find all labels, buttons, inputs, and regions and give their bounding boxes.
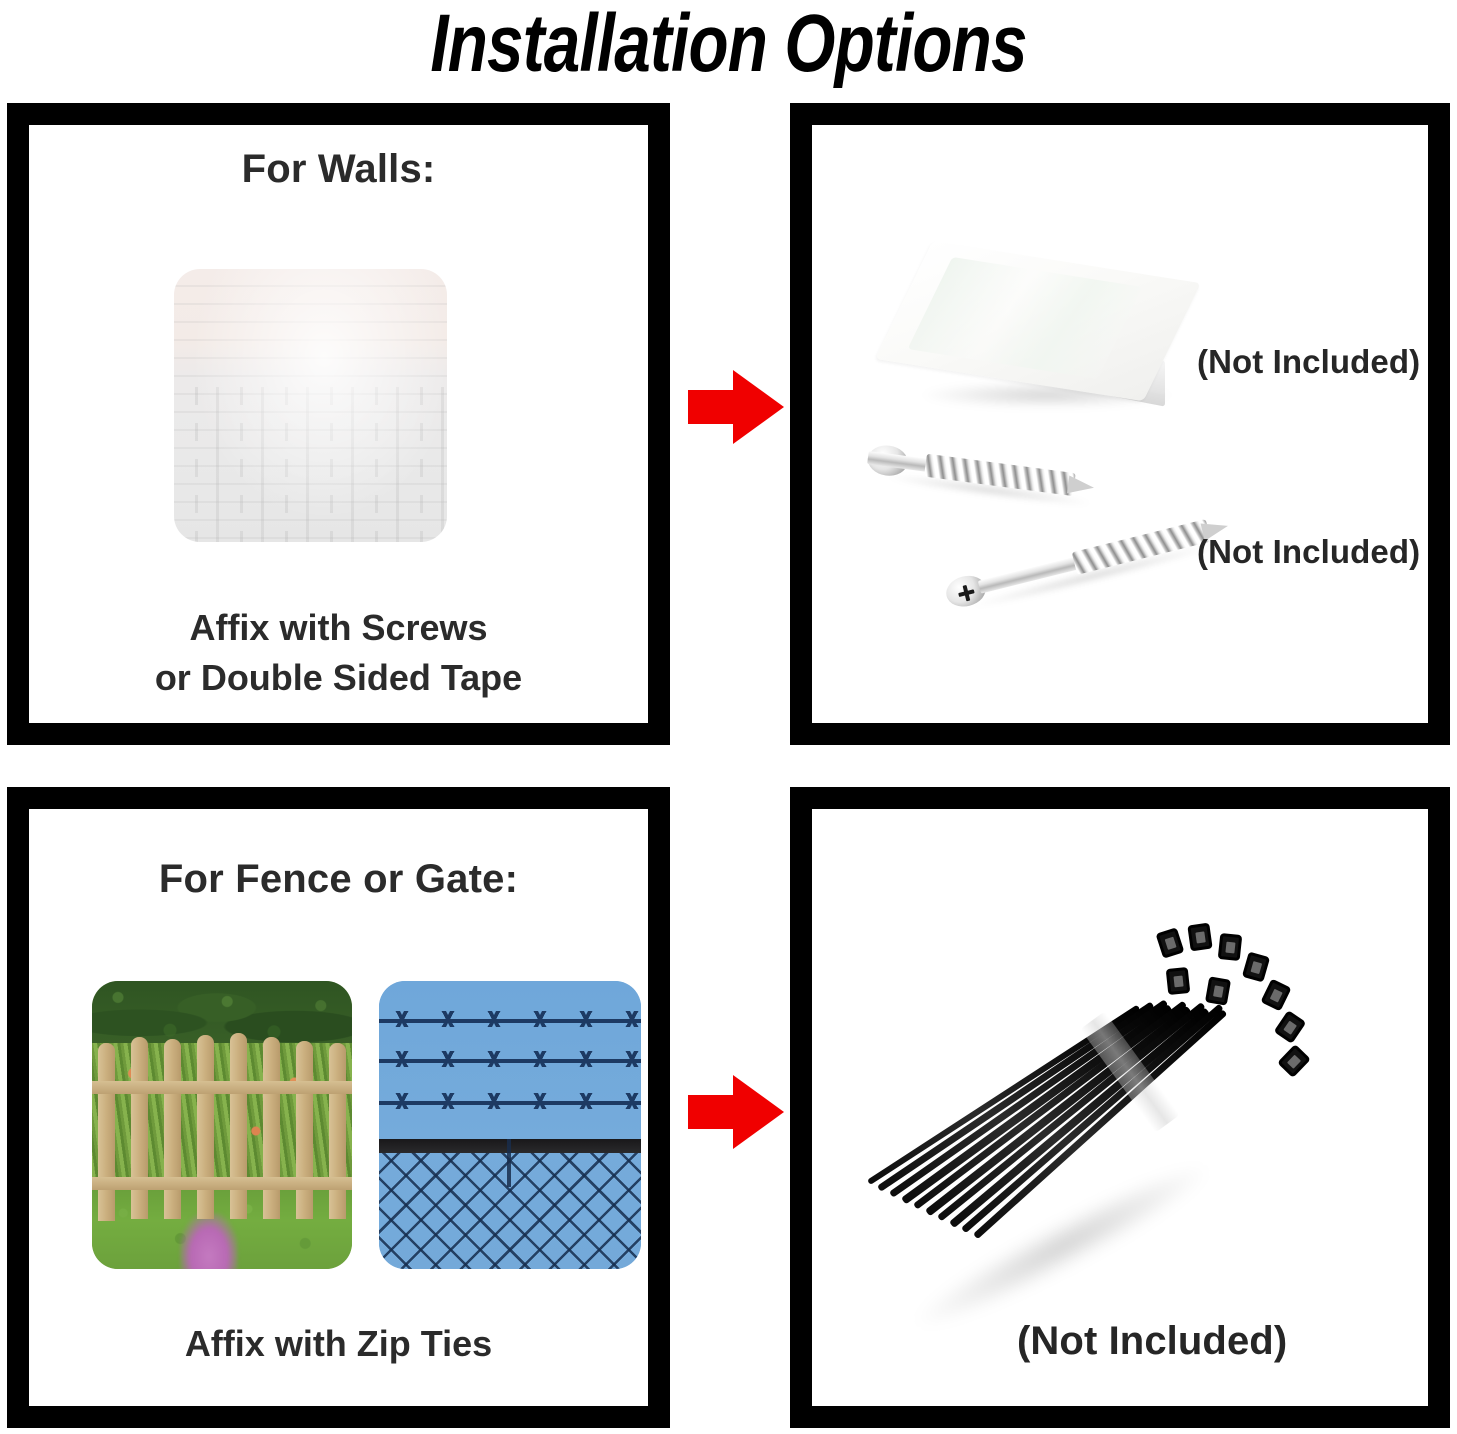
barbed-wire-strand-1 — [379, 1019, 641, 1023]
panel-for-walls: For Walls: Affix with Screws or Double S… — [7, 103, 670, 745]
screw-back-tip — [1067, 475, 1095, 496]
walls-caption: Affix with Screws or Double Sided Tape — [29, 603, 648, 702]
wall-highlight — [174, 269, 447, 542]
zip-ties-bundle-photo — [867, 924, 1327, 1354]
fence-picket — [329, 1043, 346, 1219]
mesh-tie-post — [507, 1139, 511, 1187]
fence-rail-upper — [92, 1081, 352, 1094]
tape-not-included-label: (Not Included) — [1197, 343, 1420, 381]
panel-for-fence-content: For Fence or Gate: — [29, 809, 648, 1406]
fence-picket — [164, 1039, 181, 1219]
picket-fence-photo — [92, 981, 352, 1269]
panel-wall-hardware: (Not Included) (Not Included) — [790, 103, 1450, 745]
zip-tie-head — [1277, 1044, 1311, 1078]
zip-tie-head — [1242, 951, 1270, 982]
panel-wall-hardware-content: (Not Included) (Not Included) — [812, 125, 1428, 723]
panel-zip-ties-content: (Not Included) — [812, 809, 1428, 1406]
red-right-arrow-icon-bottom — [688, 1075, 784, 1149]
arrow-head — [733, 1075, 784, 1149]
phillips-cross-icon — [957, 583, 976, 602]
barbed-wire-strand-3 — [379, 1101, 641, 1105]
fence-picket — [296, 1041, 313, 1219]
zip-tie-head — [1274, 1010, 1307, 1044]
fence-picket — [197, 1035, 214, 1219]
zip-tie-head — [1205, 976, 1231, 1005]
zip-tie-head — [1156, 927, 1185, 959]
fence-rail-lower — [92, 1177, 352, 1190]
arrow-head — [733, 370, 784, 444]
fence-picket — [131, 1037, 148, 1219]
zipties-not-included-label: (Not Included) — [1017, 1319, 1287, 1364]
zip-tie-head — [1166, 967, 1191, 995]
panel-for-fence-or-gate: For Fence or Gate: — [7, 787, 670, 1428]
zip-tie-head — [1260, 978, 1291, 1011]
walls-caption-line1: Affix with Screws — [29, 603, 648, 653]
double-sided-tape-stack-photo — [904, 262, 1189, 432]
walls-caption-line2: or Double Sided Tape — [29, 653, 648, 703]
page-title: Installation Options — [146, 0, 1312, 90]
red-right-arrow-icon-top — [688, 370, 784, 444]
white-brick-wall-photo — [174, 269, 447, 542]
for-walls-heading: For Walls: — [29, 147, 648, 192]
zip-tie-head — [1187, 923, 1212, 952]
screw-back-photo — [866, 442, 1113, 504]
fence-picket — [230, 1033, 247, 1219]
screws-not-included-label: (Not Included) — [1197, 533, 1420, 571]
zip-tie-head — [1218, 933, 1243, 961]
barbed-wire-chain-link-photo — [379, 981, 641, 1269]
panel-for-walls-content: For Walls: Affix with Screws or Double S… — [29, 125, 648, 723]
fence-picket — [98, 1043, 115, 1221]
fence-caption: Affix with Zip Ties — [29, 1319, 648, 1369]
for-fence-heading: For Fence or Gate: — [29, 857, 648, 902]
barbed-wire-strand-2 — [379, 1059, 641, 1063]
panel-zip-ties: (Not Included) — [790, 787, 1450, 1428]
fence-picket — [263, 1037, 280, 1219]
screw-front-photo — [943, 510, 1232, 609]
garden-path — [180, 1213, 238, 1269]
zip-tie-strand — [901, 1004, 1173, 1204]
